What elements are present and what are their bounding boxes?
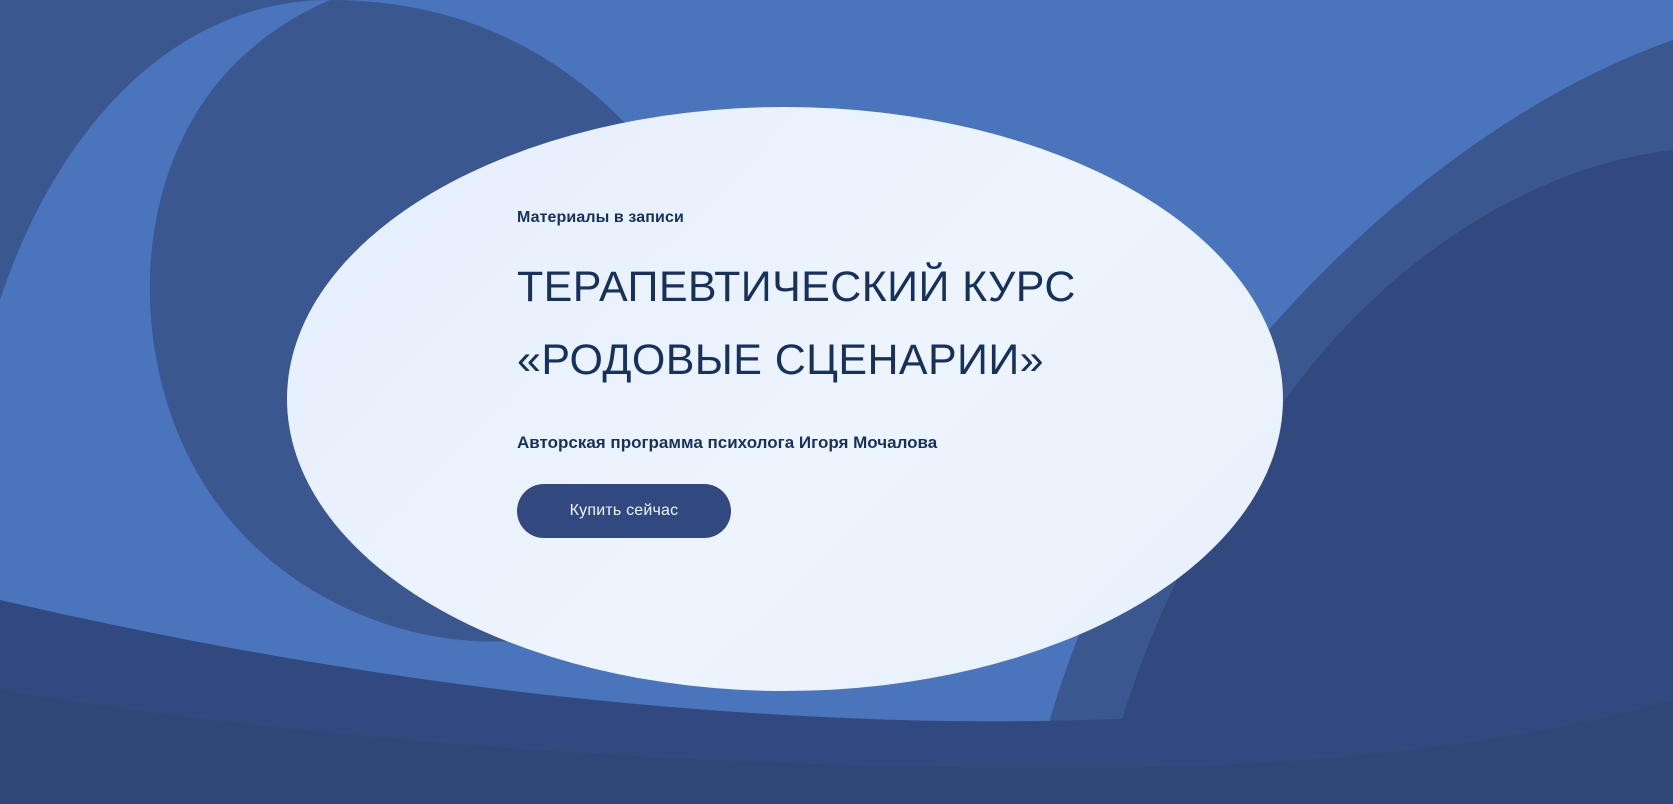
page-title-line-2: «РОДОВЫЕ СЦЕНАРИИ» (517, 324, 1137, 397)
page-title: ТЕРАПЕВТИЧЕСКИЙ КУРС «РОДОВЫЕ СЦЕНАРИИ» (517, 251, 1137, 397)
page-title-line-1: ТЕРАПЕВТИЧЕСКИЙ КУРС (517, 251, 1137, 324)
hero-banner: Материалы в записи ТЕРАПЕВТИЧЕСКИЙ КУРС … (0, 0, 1673, 804)
hero-subtitle: Авторская программа психолога Игоря Моча… (517, 431, 1137, 455)
eyebrow-label: Материалы в записи (517, 207, 1137, 229)
buy-now-button[interactable]: Купить сейчас (517, 484, 731, 538)
hero-content: Материалы в записи ТЕРАПЕВТИЧЕСКИЙ КУРС … (517, 207, 1137, 538)
